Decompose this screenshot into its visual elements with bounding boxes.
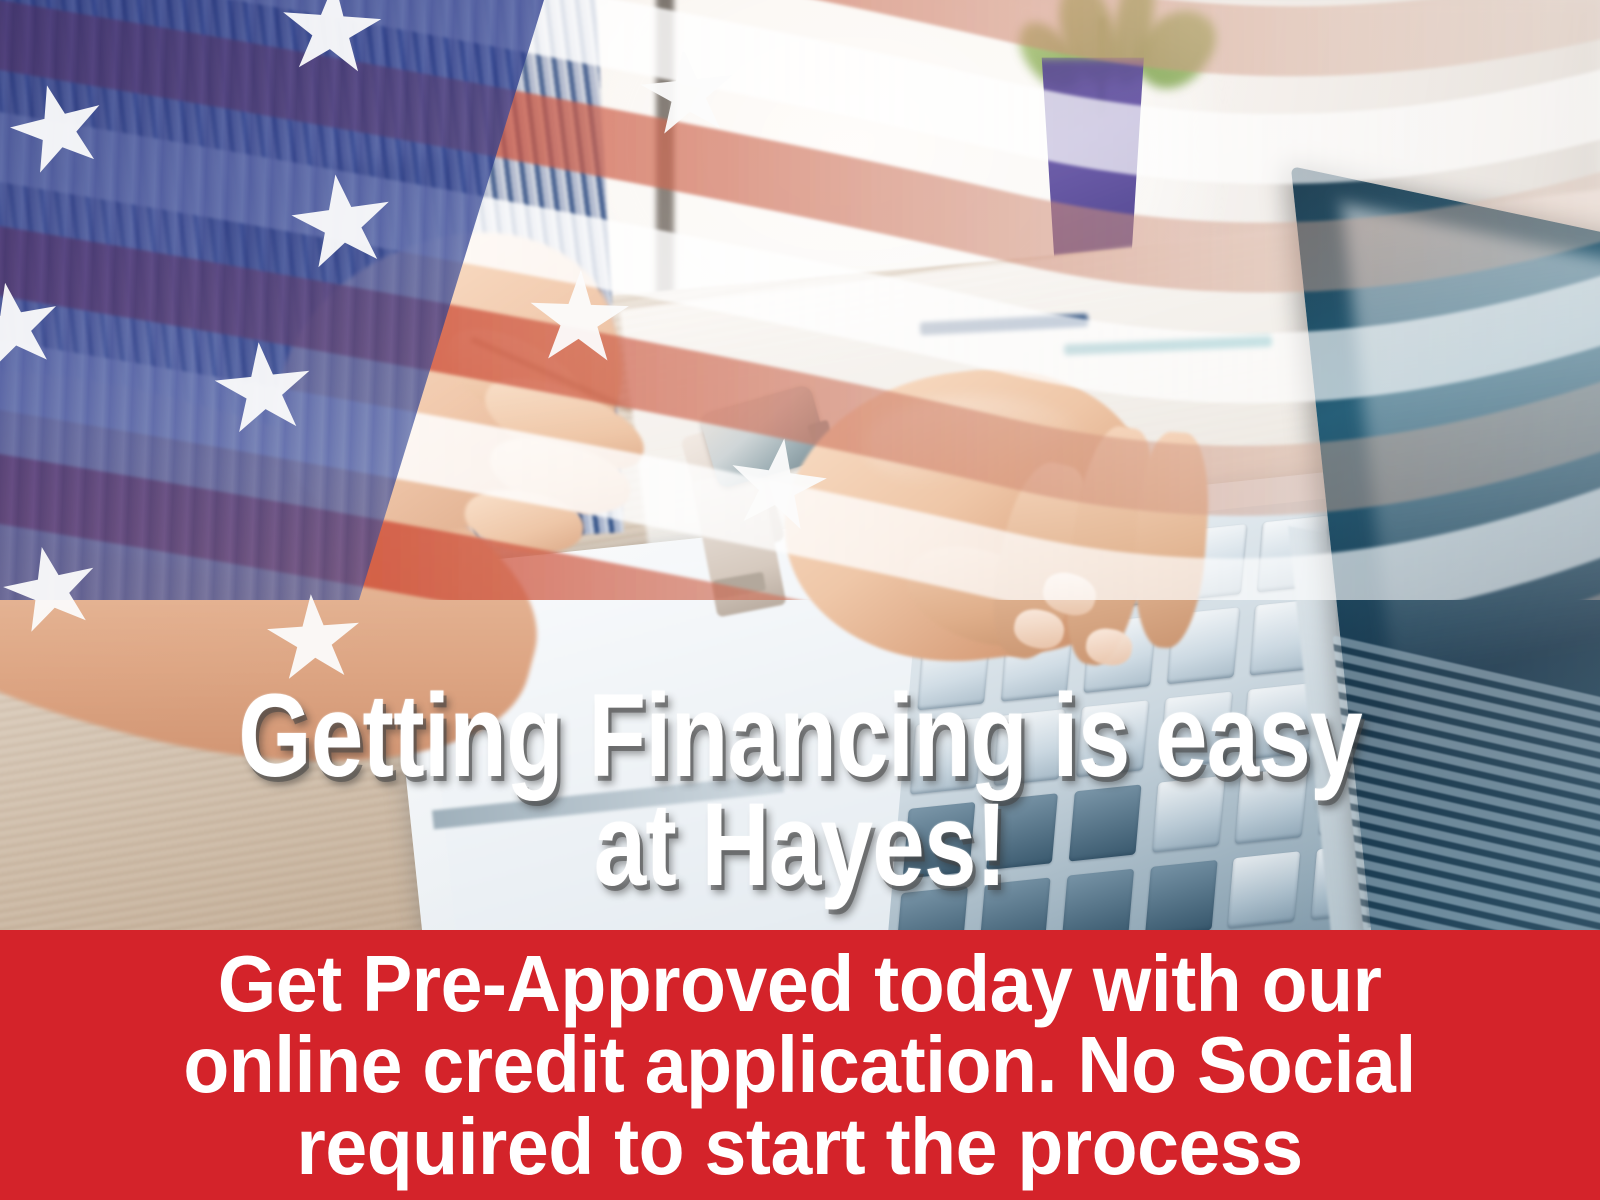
- promo-banner: Get Pre-Approved today with our online c…: [0, 930, 1600, 1200]
- financing-promo-banner: Getting Financing is easy at Hayes! Get …: [0, 0, 1600, 1200]
- background-frame-bar: [656, 0, 674, 336]
- shirt-button: [59, 162, 83, 186]
- promo-banner-text: Get Pre-Approved today with our online c…: [127, 943, 1472, 1188]
- page-title: Getting Financing is easy at Hayes!: [160, 682, 1440, 899]
